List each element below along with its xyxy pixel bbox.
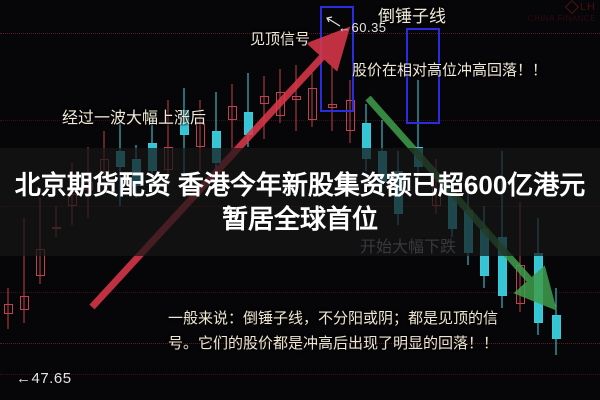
high-price-value: 60.35 <box>352 20 387 35</box>
explanatory-note: 一般来说：倒锤子线，不分阳或阴；都是见顶的信 号。它们的股价都是冲高后出现了明显… <box>168 306 592 356</box>
watermark-subtitle: CHINA FINANCE <box>528 14 596 23</box>
high-price-tag: ←60.35 <box>338 20 387 35</box>
low-price-arrow-icon: ← <box>16 370 32 387</box>
candle-wick <box>264 76 265 139</box>
headline-banner: 北京期货配资 香港今年新股集资额已超600亿港元 暂居全球首位 <box>0 148 600 256</box>
annotation-high-pullback: 股价在相对高位冲高回落！！ <box>352 59 547 80</box>
candlestick <box>244 73 253 147</box>
note-line-2: 号。它们的股价都是冲高后出现了明显的回落！！ <box>168 331 592 356</box>
candlestick <box>276 69 285 124</box>
candle-body <box>228 106 237 120</box>
candle-body <box>20 296 29 310</box>
annotation-top-signal: 见顶信号 <box>250 28 310 49</box>
stock-chart-screenshot: 见顶信号倒锤子线股价在相对高位冲高回落！！经过一波大幅上涨后开始大幅下跌 ←60… <box>0 0 600 400</box>
low-price-tag: ←47.65 <box>16 370 72 387</box>
watermark-mark: LH <box>580 1 596 13</box>
gridline <box>0 374 600 375</box>
candlestick <box>260 76 269 139</box>
annotation-inverted-hammer: 倒锤子线 <box>378 2 446 27</box>
candle-body <box>308 88 317 119</box>
candle-wick <box>248 73 249 147</box>
candle-body <box>260 96 269 104</box>
annotation-after-rally: 经过一波大幅上涨后 <box>62 104 206 128</box>
candle-body <box>292 96 301 100</box>
candle-body <box>516 265 525 304</box>
gridline <box>0 292 600 293</box>
candle-body <box>4 304 13 315</box>
candle-wick <box>232 84 233 155</box>
candlestick <box>292 65 301 132</box>
candlestick <box>228 84 237 155</box>
note-line-1: 一般来说：倒锤子线，不分阳或阴；都是见顶的信 <box>168 306 592 331</box>
diamond-icon <box>565 0 579 14</box>
candlestick <box>4 288 13 329</box>
candle-body <box>244 112 253 136</box>
candle-body <box>276 92 285 116</box>
site-watermark: LH <box>567 1 596 13</box>
low-price-value: 47.65 <box>32 370 72 387</box>
headline-line-1: 北京期货配资 香港今年新股集资额已超600亿港元 <box>15 168 586 202</box>
headline-line-2: 暂居全球首位 <box>222 202 378 236</box>
high-price-arrow-icon: ← <box>338 20 352 35</box>
candlestick <box>308 73 317 128</box>
